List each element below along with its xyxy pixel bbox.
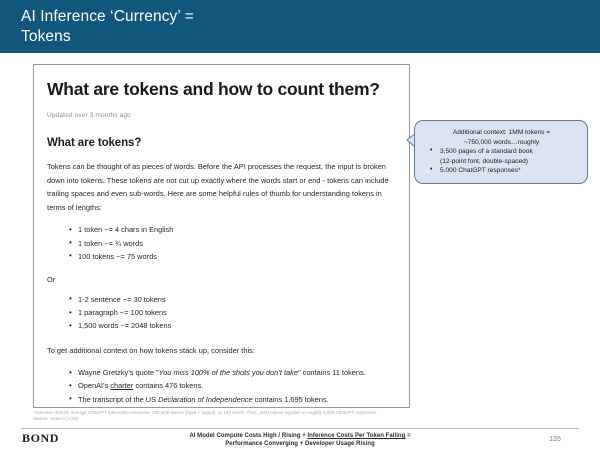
example-prefix: OpenAI’s [78, 381, 110, 390]
list-item: 1-2 sentence ~= 30 tokens [69, 293, 396, 306]
example-prefix: Wayne Gretzky’s quote " [78, 368, 159, 377]
tagline-part-2: = [405, 433, 410, 439]
example-suffix: " contains 11 tokens. [298, 368, 366, 377]
callout-line-1: Additional context: 1MM tokens = [424, 128, 579, 138]
list-item: 1 token ~= ¾ words [69, 237, 396, 250]
footnote-source: Source: OpenAI (1/25) [33, 416, 578, 422]
or-separator-label: Or [47, 275, 396, 284]
list-item: The transcript of the US Declaration of … [69, 393, 396, 406]
footnote: *Assumes that the average ChatGPT intera… [33, 410, 578, 422]
token-rules-list-secondary: 1-2 sentence ~= 30 tokens 1 paragraph ~=… [47, 293, 396, 333]
tagline-part-1: AI Model Compute Costs High / Rising + [189, 433, 307, 439]
example-suffix: contains 476 tokens. [133, 381, 203, 390]
list-item: 3,500 pages of a standard book (12-point… [430, 147, 579, 166]
bond-logo: BOND [22, 431, 59, 446]
callout-bullet-main: 5,000 ChatGPT responses* [440, 167, 521, 174]
token-rules-list: 1 token ~= 4 chars in English 1 token ~=… [47, 223, 396, 263]
list-item: 1,500 words ~= 2048 tokens [69, 319, 396, 332]
article-heading: What are tokens and how to count them? [47, 78, 396, 100]
callout-bubble: Additional context: 1MM tokens = ~750,00… [414, 120, 588, 184]
page-title: AI Inference ‘Currency’ = Tokens [21, 7, 581, 47]
callout-bullet-sub: (12-point font, double-spaced) [440, 157, 579, 167]
example-quote: You miss 100% of the shots you don’t tak… [159, 368, 298, 377]
footer-divider [21, 428, 579, 429]
callout-bullet-list: 3,500 pages of a standard book (12-point… [424, 147, 579, 176]
callout-line-2: ~750,000 words…roughly [424, 138, 579, 148]
list-item: 100 tokens ~= 75 words [69, 250, 396, 263]
tagline-line-2: Performance Converging + Developer Usage… [225, 441, 375, 447]
example-prefix: The transcript of the US [78, 395, 158, 404]
article-screenshot-card: What are tokens and how to count them? U… [33, 64, 410, 408]
article-context-paragraph: To get additional context on how tokens … [47, 344, 396, 358]
callout-bullet-main: 3,500 pages of a standard book [440, 148, 533, 155]
footer-tagline: AI Model Compute Costs High / Rising + I… [150, 432, 450, 449]
article-section-heading: What are tokens? [47, 137, 396, 149]
tagline-link: Inference Costs Per Token Falling [307, 433, 405, 439]
example-suffix: contains 1,695 tokens. [253, 395, 329, 404]
list-item: OpenAI’s charter contains 476 tokens. [69, 379, 396, 392]
article-intro-paragraph: Tokens can be thought of as pieces of wo… [47, 160, 396, 214]
list-item: 1 token ~= 4 chars in English [69, 223, 396, 236]
page-number: 135 [540, 436, 570, 443]
list-item: 1 paragraph ~= 100 tokens [69, 306, 396, 319]
list-item: Wayne Gretzky’s quote "You miss 100% of … [69, 366, 396, 379]
token-examples-list: Wayne Gretzky’s quote "You miss 100% of … [47, 366, 396, 406]
example-document-title: Declaration of Independence [158, 395, 253, 404]
list-item: 5,000 ChatGPT responses* [430, 166, 579, 176]
charter-link[interactable]: charter [110, 381, 133, 390]
article-updated-timestamp: Updated over 3 months ago [47, 112, 396, 119]
